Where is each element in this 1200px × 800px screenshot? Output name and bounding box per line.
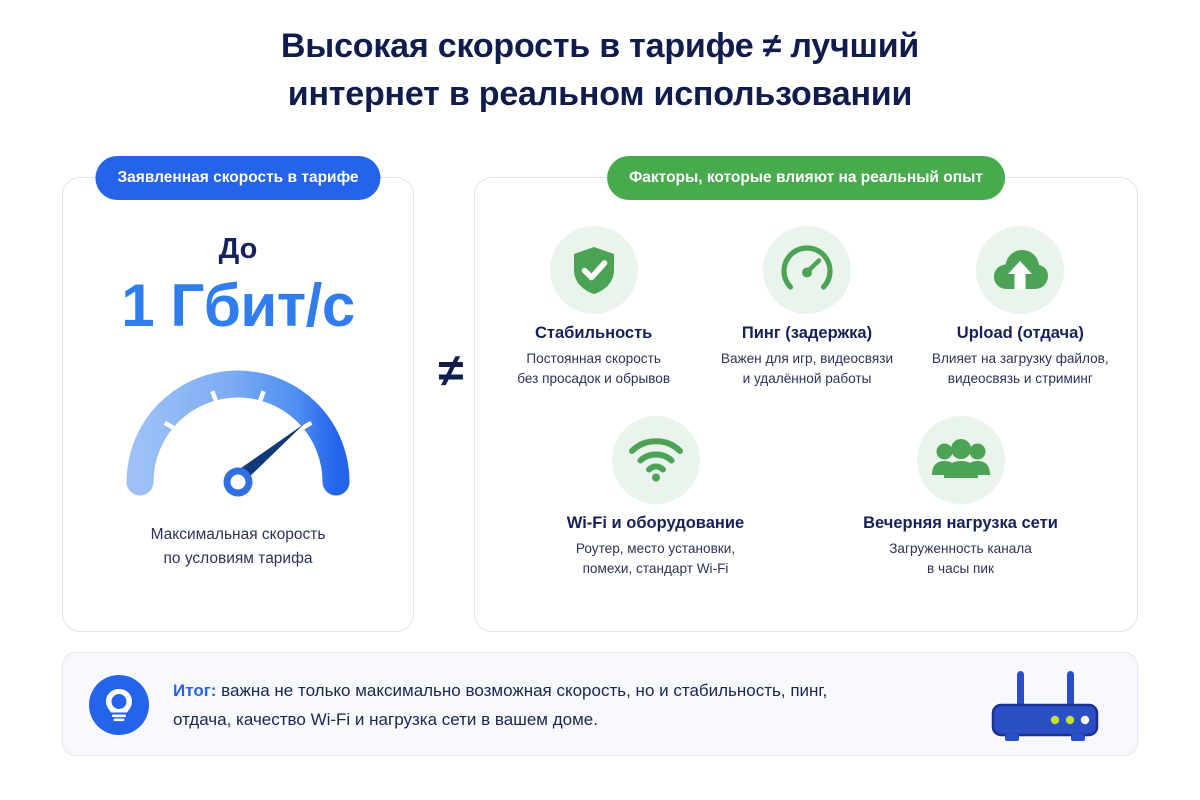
wifi-icon bbox=[612, 416, 700, 504]
factor-description: Роутер, место установки, помехи, стандар… bbox=[553, 539, 758, 580]
real-factors-panel: Факторы, которые влияют на реальный опыт… bbox=[474, 177, 1138, 632]
wifi-router-icon bbox=[983, 669, 1107, 750]
lightbulb-icon bbox=[89, 675, 149, 735]
factor-description: Важен для игр, видеосвязи и удалённой ра… bbox=[704, 349, 909, 390]
factor-description-line-1: Влияет на загрузку файлов, bbox=[918, 349, 1123, 369]
factor-description: Загруженность канала в часы пик bbox=[858, 539, 1063, 580]
not-equal-icon: ≠ bbox=[428, 347, 474, 393]
factor-description-line-2: без просадок и обрывов bbox=[491, 369, 696, 389]
speedometer-svg bbox=[779, 242, 835, 298]
real-factors-badge: Факторы, которые влияют на реальный опыт bbox=[607, 156, 1005, 200]
shield-check-icon bbox=[550, 226, 638, 314]
factor-wifi-equipment: Wi-Fi и оборудование Роутер, место устан… bbox=[553, 416, 758, 580]
summary-label: Итог: bbox=[173, 681, 216, 700]
wifi-svg bbox=[628, 437, 684, 483]
gauge-arc bbox=[140, 384, 336, 482]
factor-description-line-2: помехи, стандарт Wi-Fi bbox=[553, 559, 758, 579]
cloud-upload-svg bbox=[991, 244, 1049, 296]
summary-text-line-1: важна не только максимально возможная ск… bbox=[216, 681, 827, 700]
lightbulb-svg bbox=[103, 687, 135, 723]
factor-title: Пинг (задержка) bbox=[704, 324, 909, 343]
summary-panel: Итог: важна не только максимально возмож… bbox=[62, 652, 1138, 756]
summary-text: Итог: важна не только максимально возмож… bbox=[173, 676, 963, 734]
page-title: Высокая скорость в тарифе ≠ лучший интер… bbox=[0, 22, 1200, 119]
factor-description-line-2: в часы пик bbox=[858, 559, 1063, 579]
speed-value: 1 Гбит/с bbox=[63, 271, 413, 340]
factor-title: Вечерняя нагрузка сети bbox=[858, 514, 1063, 533]
speedometer-icon bbox=[763, 226, 851, 314]
cloud-upload-icon bbox=[976, 226, 1064, 314]
factor-description: Влияет на загрузку файлов, видеосвязь и … bbox=[918, 349, 1123, 390]
factors-row-bottom: Wi-Fi и оборудование Роутер, место устан… bbox=[553, 416, 1063, 580]
declared-speed-caption: Максимальная скорость по условиям тарифа bbox=[63, 523, 413, 571]
shield-check-svg bbox=[567, 243, 621, 297]
declared-speed-caption-line-2: по условиям тарифа bbox=[63, 547, 413, 571]
factor-stability: Стабильность Постоянная скорость без про… bbox=[491, 226, 696, 390]
gauge-svg bbox=[118, 358, 358, 498]
declared-speed-caption-line-1: Максимальная скорость bbox=[63, 523, 413, 547]
factor-title: Upload (отдача) bbox=[918, 324, 1123, 343]
factor-title: Wi-Fi и оборудование bbox=[553, 514, 758, 533]
factor-description: Постоянная скорость без просадок и обрыв… bbox=[491, 349, 696, 390]
comparison-panels: Заявленная скорость в тарифе До 1 Гбит/с bbox=[62, 177, 1138, 632]
upto-label: До bbox=[63, 233, 413, 266]
summary-text-line-2: отдача, качество Wi-Fi и нагрузка сети в… bbox=[173, 710, 598, 729]
factor-description-line-2: видеосвязь и стриминг bbox=[918, 369, 1123, 389]
factor-description-line-2: и удалённой работы bbox=[704, 369, 909, 389]
declared-speed-badge: Заявленная скорость в тарифе bbox=[95, 156, 380, 200]
factor-ping: Пинг (задержка) Важен для игр, видеосвяз… bbox=[704, 226, 909, 390]
factor-description-line-1: Постоянная скорость bbox=[491, 349, 696, 369]
page-title-line-1: Высокая скорость в тарифе ≠ лучший bbox=[0, 22, 1200, 70]
gauge-hub-inner bbox=[231, 475, 246, 490]
factor-evening-load: Вечерняя нагрузка сети Загруженность кан… bbox=[858, 416, 1063, 580]
factor-description-line-1: Важен для игр, видеосвязи bbox=[704, 349, 909, 369]
factors-row-top: Стабильность Постоянная скорость без про… bbox=[487, 226, 1127, 390]
factor-description-line-1: Загруженность канала bbox=[858, 539, 1063, 559]
users-group-svg bbox=[932, 438, 990, 482]
declared-speed-panel: Заявленная скорость в тарифе До 1 Гбит/с bbox=[62, 177, 414, 632]
router-svg bbox=[983, 669, 1107, 745]
page-title-line-2: интернет в реальном использовании bbox=[0, 70, 1200, 118]
users-group-icon bbox=[917, 416, 1005, 504]
factor-description-line-1: Роутер, место установки, bbox=[553, 539, 758, 559]
factor-title: Стабильность bbox=[491, 324, 696, 343]
speedometer-gauge-icon bbox=[63, 358, 413, 508]
factor-upload: Upload (отдача) Влияет на загрузку файло… bbox=[918, 226, 1123, 390]
